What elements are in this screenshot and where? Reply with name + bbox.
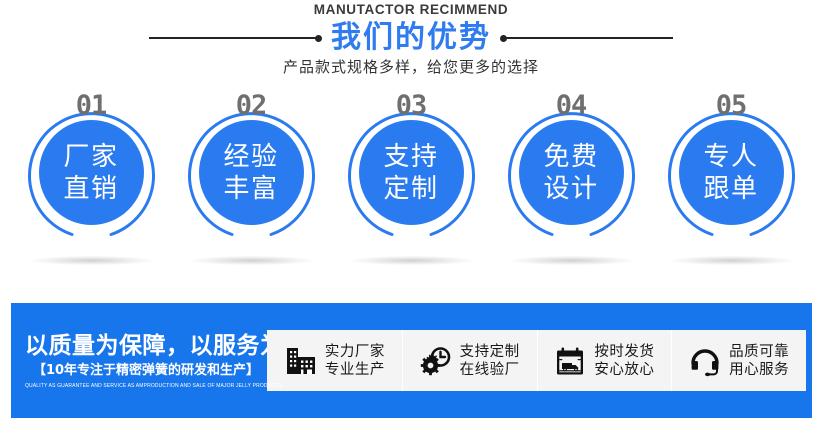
slogan-sub: 【10年专注于精密弹簧的研发和生产】 bbox=[25, 362, 267, 380]
headset-icon bbox=[688, 344, 722, 378]
advantages-list: 厂家 直销 01 经验 丰富 02 支持 定制 03 免费 bbox=[0, 88, 822, 278]
feature-text: 支持定制 在线验厂 bbox=[460, 343, 520, 379]
header-title-row: 我们的优势 bbox=[0, 20, 822, 56]
calendar-truck-icon bbox=[553, 344, 587, 378]
advantage-label-line2: 设计 bbox=[543, 173, 598, 205]
advantage-circle: 免费 设计 bbox=[519, 120, 624, 225]
advantage-item-03: 支持 定制 03 bbox=[339, 88, 484, 268]
feature-item-1: 实力厂家 专业生产 bbox=[267, 330, 402, 391]
advantage-number: 05 bbox=[659, 92, 804, 120]
advantage-number: 02 bbox=[179, 92, 324, 120]
advantage-label-line2: 跟单 bbox=[703, 173, 758, 205]
bottom-banner: 以质量为保障，以服务为宗旨 【10年专注于精密弹簧的研发和生产】 QUALITY… bbox=[11, 303, 812, 418]
feature-item-2: 支持定制 在线验厂 bbox=[402, 330, 537, 391]
slogan-block: 以质量为保障，以服务为宗旨 【10年专注于精密弹簧的研发和生产】 QUALITY… bbox=[11, 332, 267, 390]
header-subtitle: 产品款式规格多样，给您更多的选择 bbox=[0, 56, 822, 77]
slogan-english: QUALITY AS GUARANTEE AND SERVICE AS AMPR… bbox=[25, 381, 267, 391]
circle-shadow bbox=[193, 256, 311, 265]
feature-line1: 按时发货 bbox=[594, 343, 654, 361]
feature-text: 品质可靠 用心服务 bbox=[729, 343, 789, 379]
circle-shadow bbox=[33, 256, 151, 265]
feature-strip: 实力厂家 专业生产 bbox=[267, 330, 806, 391]
advantage-number: 01 bbox=[19, 92, 164, 120]
advantage-label-line1: 免费 bbox=[543, 141, 598, 173]
circle-shadow bbox=[673, 256, 791, 265]
feature-text: 实力厂家 专业生产 bbox=[325, 343, 385, 379]
advantage-item-02: 经验 丰富 02 bbox=[179, 88, 324, 268]
feature-line2: 在线验厂 bbox=[460, 361, 520, 379]
advantage-item-05: 专人 跟单 05 bbox=[659, 88, 804, 268]
divider-dot-right bbox=[500, 35, 507, 42]
gear-clock-icon bbox=[419, 344, 453, 378]
feature-item-4: 品质可靠 用心服务 bbox=[671, 330, 806, 391]
advantage-label-line1: 专人 bbox=[703, 141, 758, 173]
circle-shadow bbox=[353, 256, 471, 265]
advantage-circle: 厂家 直销 bbox=[39, 120, 144, 225]
header-section: MANUTACTOR RECIMMEND 我们的优势 产品款式规格多样，给您更多… bbox=[0, 0, 822, 88]
page-title: 我们的优势 bbox=[319, 20, 503, 56]
divider-right bbox=[503, 37, 673, 39]
advantage-item-01: 厂家 直销 01 bbox=[19, 88, 164, 268]
feature-text: 按时发货 安心放心 bbox=[594, 343, 654, 379]
advantage-label-line1: 支持 bbox=[383, 141, 438, 173]
feature-line2: 专业生产 bbox=[325, 361, 385, 379]
feature-line1: 实力厂家 bbox=[325, 343, 385, 361]
advantage-label-line1: 经验 bbox=[223, 141, 278, 173]
advantage-item-04: 免费 设计 04 bbox=[499, 88, 644, 268]
slogan-main: 以质量为保障，以服务为宗旨 bbox=[25, 332, 267, 361]
advantage-circle: 经验 丰富 bbox=[199, 120, 304, 225]
circle-shadow bbox=[513, 256, 631, 265]
factory-building-icon bbox=[284, 344, 318, 378]
advantage-number: 04 bbox=[499, 92, 644, 120]
feature-item-3: 按时发货 安心放心 bbox=[537, 330, 672, 391]
divider-left bbox=[149, 37, 319, 39]
advantage-number: 03 bbox=[339, 92, 484, 120]
advantage-label-line2: 丰富 bbox=[223, 173, 278, 205]
advantage-label-line2: 定制 bbox=[383, 173, 438, 205]
advantage-label-line2: 直销 bbox=[63, 173, 118, 205]
feature-line1: 支持定制 bbox=[460, 343, 520, 361]
feature-line2: 用心服务 bbox=[729, 361, 789, 379]
advantage-circle: 支持 定制 bbox=[359, 120, 464, 225]
header-eyebrow: MANUTACTOR RECIMMEND bbox=[0, 2, 822, 17]
feature-line1: 品质可靠 bbox=[729, 343, 789, 361]
feature-line2: 安心放心 bbox=[594, 361, 654, 379]
advantage-circle: 专人 跟单 bbox=[679, 120, 784, 225]
divider-dot-left bbox=[315, 35, 322, 42]
advantage-label-line1: 厂家 bbox=[63, 141, 118, 173]
